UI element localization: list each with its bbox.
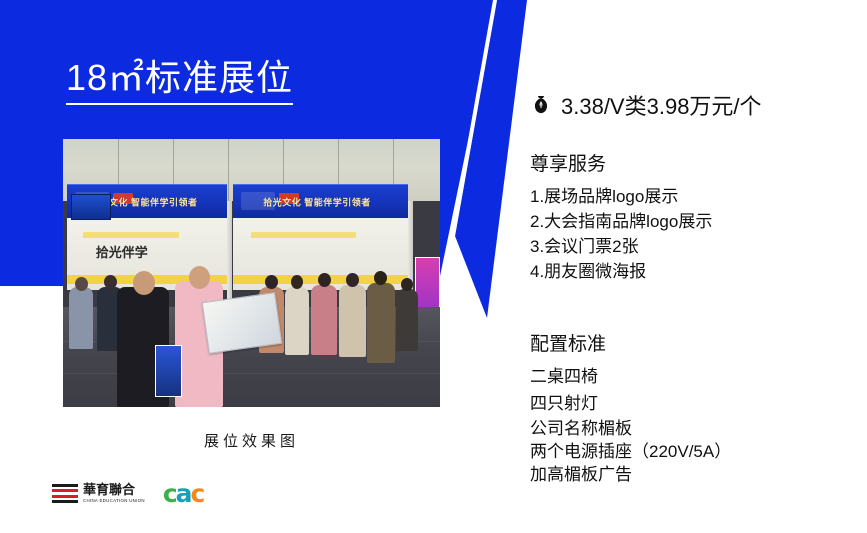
config-item: 二桌四椅 <box>530 363 860 390</box>
photo-person <box>396 289 418 351</box>
footer-logos: 華育聯合 CHINA EDUCATION UNION cac <box>52 481 203 506</box>
photo-person-head <box>346 273 359 287</box>
photo-person-head <box>374 271 387 285</box>
price-text: 3.38/V类3.98万元/个 <box>561 92 762 122</box>
config-item: 四只射灯 <box>530 390 860 417</box>
blue-polygon-wedge <box>455 0 527 318</box>
ceu-logo-text: 華育聯合 CHINA EDUCATION UNION <box>83 484 145 503</box>
photo-person-head <box>104 275 117 289</box>
services-heading: 尊享服务 <box>530 152 860 178</box>
photo-person <box>367 283 395 363</box>
photo-caption: 展位效果图 <box>63 430 440 451</box>
service-item: 1.展场品牌logo展示 <box>530 184 860 209</box>
page-title: 18㎡标准展位 <box>66 55 293 105</box>
photo-person-head <box>291 275 303 289</box>
photo-person <box>285 287 309 355</box>
money-bag-icon <box>530 94 552 120</box>
cdc-letter-c1: c <box>163 481 176 506</box>
booth-yellow-stripe <box>83 232 179 238</box>
booth-sign-text: 拾光伴学 <box>96 242 148 261</box>
cdc-letter-c2: c <box>191 481 204 506</box>
photo-person <box>69 287 93 349</box>
ceu-logo-en: CHINA EDUCATION UNION <box>83 499 145 503</box>
blue-diagonal-seam <box>451 0 497 236</box>
photo-wall-seam <box>228 139 229 201</box>
photo-person <box>339 285 366 357</box>
config-item: 加高楣板广告 <box>530 463 860 486</box>
photo-person <box>311 285 337 355</box>
config-heading: 配置标准 <box>530 332 860 358</box>
booth-yellow-stripe <box>251 232 356 238</box>
photo-person-head <box>265 275 278 289</box>
service-item: 3.会议门票2张 <box>530 234 860 259</box>
photo-person-head <box>75 277 88 291</box>
photo-held-document <box>202 292 283 354</box>
config-item: 公司名称楣板 <box>530 417 860 440</box>
price-row: 3.38/V类3.98万元/个 <box>530 92 860 122</box>
photo-person-head <box>401 278 413 291</box>
ceu-logo-cn: 華育聯合 <box>83 484 145 497</box>
photo-person-head <box>133 271 155 295</box>
details-column: 3.38/V类3.98万元/个 尊享服务 1.展场品牌logo展示 2.大会指南… <box>530 92 860 486</box>
config-item: 两个电源插座（220V/5A） <box>530 440 860 463</box>
service-item: 4.朋友圈微海报 <box>530 259 860 284</box>
photo-flyer <box>155 345 182 397</box>
booth-banner-right: 拾光文化 智能伴学引领者 <box>233 184 408 220</box>
config-block: 配置标准 二桌四椅 四只射灯 公司名称楣板 两个电源插座（220V/5A） 加高… <box>530 332 860 486</box>
service-item: 2.大会指南品牌logo展示 <box>530 209 860 234</box>
ceu-bars-icon <box>52 484 78 504</box>
cdc-logo: cac <box>163 481 204 506</box>
photo-person-head <box>189 266 210 289</box>
photo-person-head <box>318 273 331 287</box>
services-block: 尊享服务 1.展场品牌logo展示 2.大会指南品牌logo展示 3.会议门票2… <box>530 152 860 284</box>
booth-divider-post <box>227 201 232 311</box>
photo-display-screen <box>71 194 111 220</box>
banner-text: 拾光文化 智能伴学引领者 <box>263 196 371 209</box>
booth-photo: 拾光文化 智能伴学引领者 拾光文化 智能伴学引领者 拾光伴学 <box>63 139 440 407</box>
cdc-letter-a: a <box>176 481 191 506</box>
china-education-union-logo: 華育聯合 CHINA EDUCATION UNION <box>52 484 145 504</box>
